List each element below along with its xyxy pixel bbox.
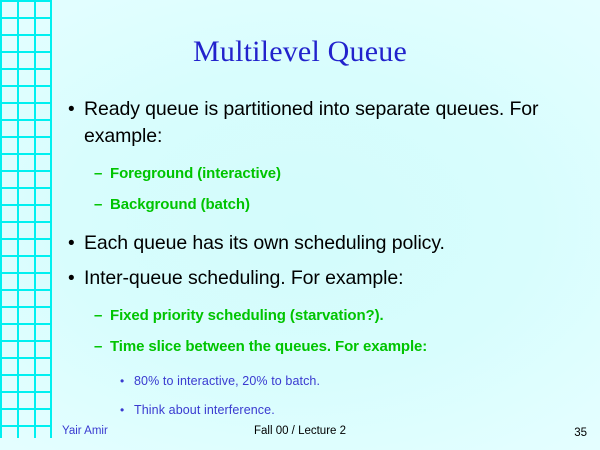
list-item: • 80% to interactive, 20% to batch. bbox=[62, 370, 582, 392]
page-number: 35 bbox=[574, 426, 587, 440]
list-item-label: Time slice between the queues. For examp… bbox=[110, 335, 427, 359]
spacer bbox=[62, 258, 582, 265]
bullet-dash-icon: – bbox=[62, 193, 110, 217]
footer-course-info: Fall 00 / Lecture 2 bbox=[0, 424, 600, 438]
list-item: • Each queue has its own scheduling poli… bbox=[62, 230, 582, 257]
spacer bbox=[62, 151, 582, 162]
page-title: Multilevel Queue bbox=[0, 34, 600, 70]
spacer bbox=[62, 328, 582, 335]
spacer bbox=[62, 293, 582, 304]
spacer bbox=[62, 186, 582, 193]
bullet-dash-icon: – bbox=[62, 304, 110, 328]
list-item: – Background (batch) bbox=[62, 193, 582, 217]
bullet-dash-icon: – bbox=[62, 162, 110, 186]
slide-body: • Ready queue is partitioned into separa… bbox=[62, 96, 582, 421]
spacer bbox=[62, 217, 582, 230]
list-item-label: Ready queue is partitioned into separate… bbox=[84, 96, 582, 150]
spacer bbox=[62, 359, 582, 370]
bullet-dot-icon: • bbox=[62, 96, 84, 123]
list-item: • Inter-queue scheduling. For example: bbox=[62, 265, 582, 292]
list-item-label: Fixed priority scheduling (starvation?). bbox=[110, 304, 384, 328]
bullet-dot-icon: • bbox=[62, 230, 84, 257]
list-item: • Ready queue is partitioned into separa… bbox=[62, 96, 582, 150]
spacer bbox=[62, 392, 582, 399]
bullet-dot-icon: • bbox=[62, 370, 134, 392]
list-item: – Foreground (interactive) bbox=[62, 162, 582, 186]
list-item-label: Think about interference. bbox=[134, 399, 275, 421]
list-item: • Think about interference. bbox=[62, 399, 582, 421]
list-item-label: Background (batch) bbox=[110, 193, 250, 217]
bullet-dash-icon: – bbox=[62, 335, 110, 359]
list-item-label: Inter-queue scheduling. For example: bbox=[84, 265, 403, 292]
list-item: – Fixed priority scheduling (starvation?… bbox=[62, 304, 582, 328]
list-item: – Time slice between the queues. For exa… bbox=[62, 335, 582, 359]
presentation-slide: Multilevel Queue • Ready queue is partit… bbox=[0, 0, 600, 450]
list-item-label: 80% to interactive, 20% to batch. bbox=[134, 370, 320, 392]
list-item-label: Foreground (interactive) bbox=[110, 162, 281, 186]
bullet-dot-icon: • bbox=[62, 265, 84, 292]
list-item-label: Each queue has its own scheduling policy… bbox=[84, 230, 445, 257]
bullet-dot-icon: • bbox=[62, 399, 134, 421]
